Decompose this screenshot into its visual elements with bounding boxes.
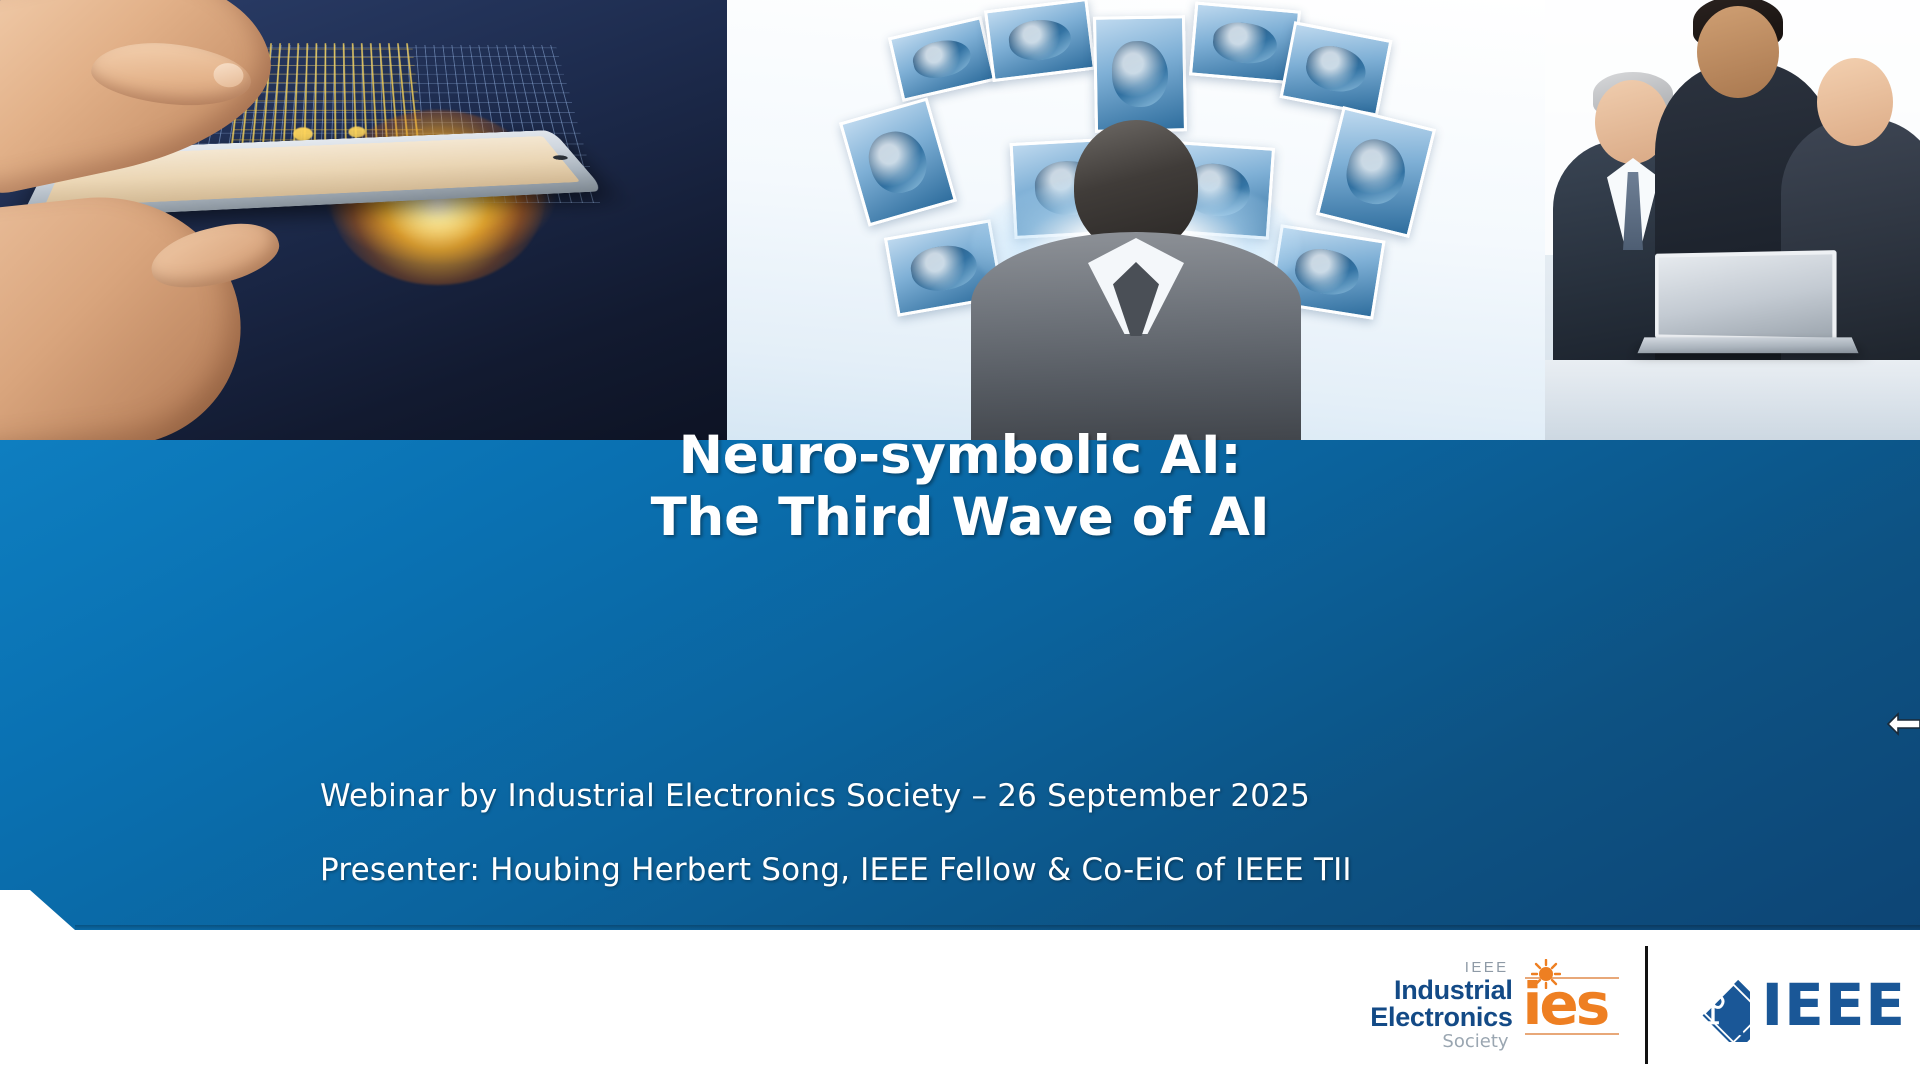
lower-hand (0, 183, 252, 440)
floating-tile (1316, 106, 1436, 238)
footer-logo-group: IEEE Industrial Electronics Society ies (1370, 942, 1920, 1068)
title-line-1: Neuro-symbolic AI: (0, 425, 1920, 487)
pointing-finger (89, 36, 254, 112)
ies-line-industrial: Industrial (1370, 977, 1512, 1004)
ies-logo-mark: ies (1523, 961, 1619, 1049)
hero-image-business-meeting (1545, 0, 1920, 440)
ieee-wordmark: IEEE (1762, 976, 1906, 1034)
person-right-head (1817, 58, 1893, 146)
fingernail (212, 62, 244, 89)
ieee-logo: IEEE (1648, 968, 1920, 1042)
slide-footer: IEEE Industrial Electronics Society ies (0, 930, 1920, 1080)
page-title: Neuro-symbolic AI: The Third Wave of AI (0, 425, 1920, 549)
floating-tile (984, 0, 1096, 82)
laptop-keyboard (1637, 337, 1858, 353)
hero-image-strip: 0100101101001101010010110100110101001011… (0, 0, 1920, 440)
laptop-screen (1655, 250, 1837, 342)
hero-image-finger-tablet: 0100101101001101010010110100110101001011… (0, 0, 727, 440)
ieee-diamond-emblem-icon (1676, 968, 1750, 1042)
ies-line-electronics: Electronics (1370, 1004, 1512, 1031)
presenter-info-line: Presenter: Houbing Herbert Song, IEEE Fe… (320, 852, 1352, 888)
presentation-slide: 0100101101001101010010110100110101001011… (0, 0, 1920, 1080)
ieee-industrial-electronics-society-logo: IEEE Industrial Electronics Society ies (1370, 960, 1644, 1051)
sunburst-icon (1531, 959, 1561, 989)
floating-tile (888, 16, 996, 102)
back-cursor-arrow-icon[interactable] (1886, 710, 1920, 738)
title-line-2: The Third Wave of AI (0, 487, 1920, 549)
floating-tile (1279, 21, 1392, 117)
hero-image-screen-ring (727, 0, 1545, 440)
floating-tile (839, 97, 957, 226)
person-center-head (1697, 6, 1779, 98)
floating-tile (1093, 15, 1187, 133)
webinar-info-line: Webinar by Industrial Electronics Societ… (320, 778, 1310, 814)
ies-line-society: Society (1370, 1033, 1512, 1051)
ies-ieee-prefix: IEEE (1370, 960, 1512, 975)
ies-wordmark: IEEE Industrial Electronics Society (1370, 960, 1512, 1051)
